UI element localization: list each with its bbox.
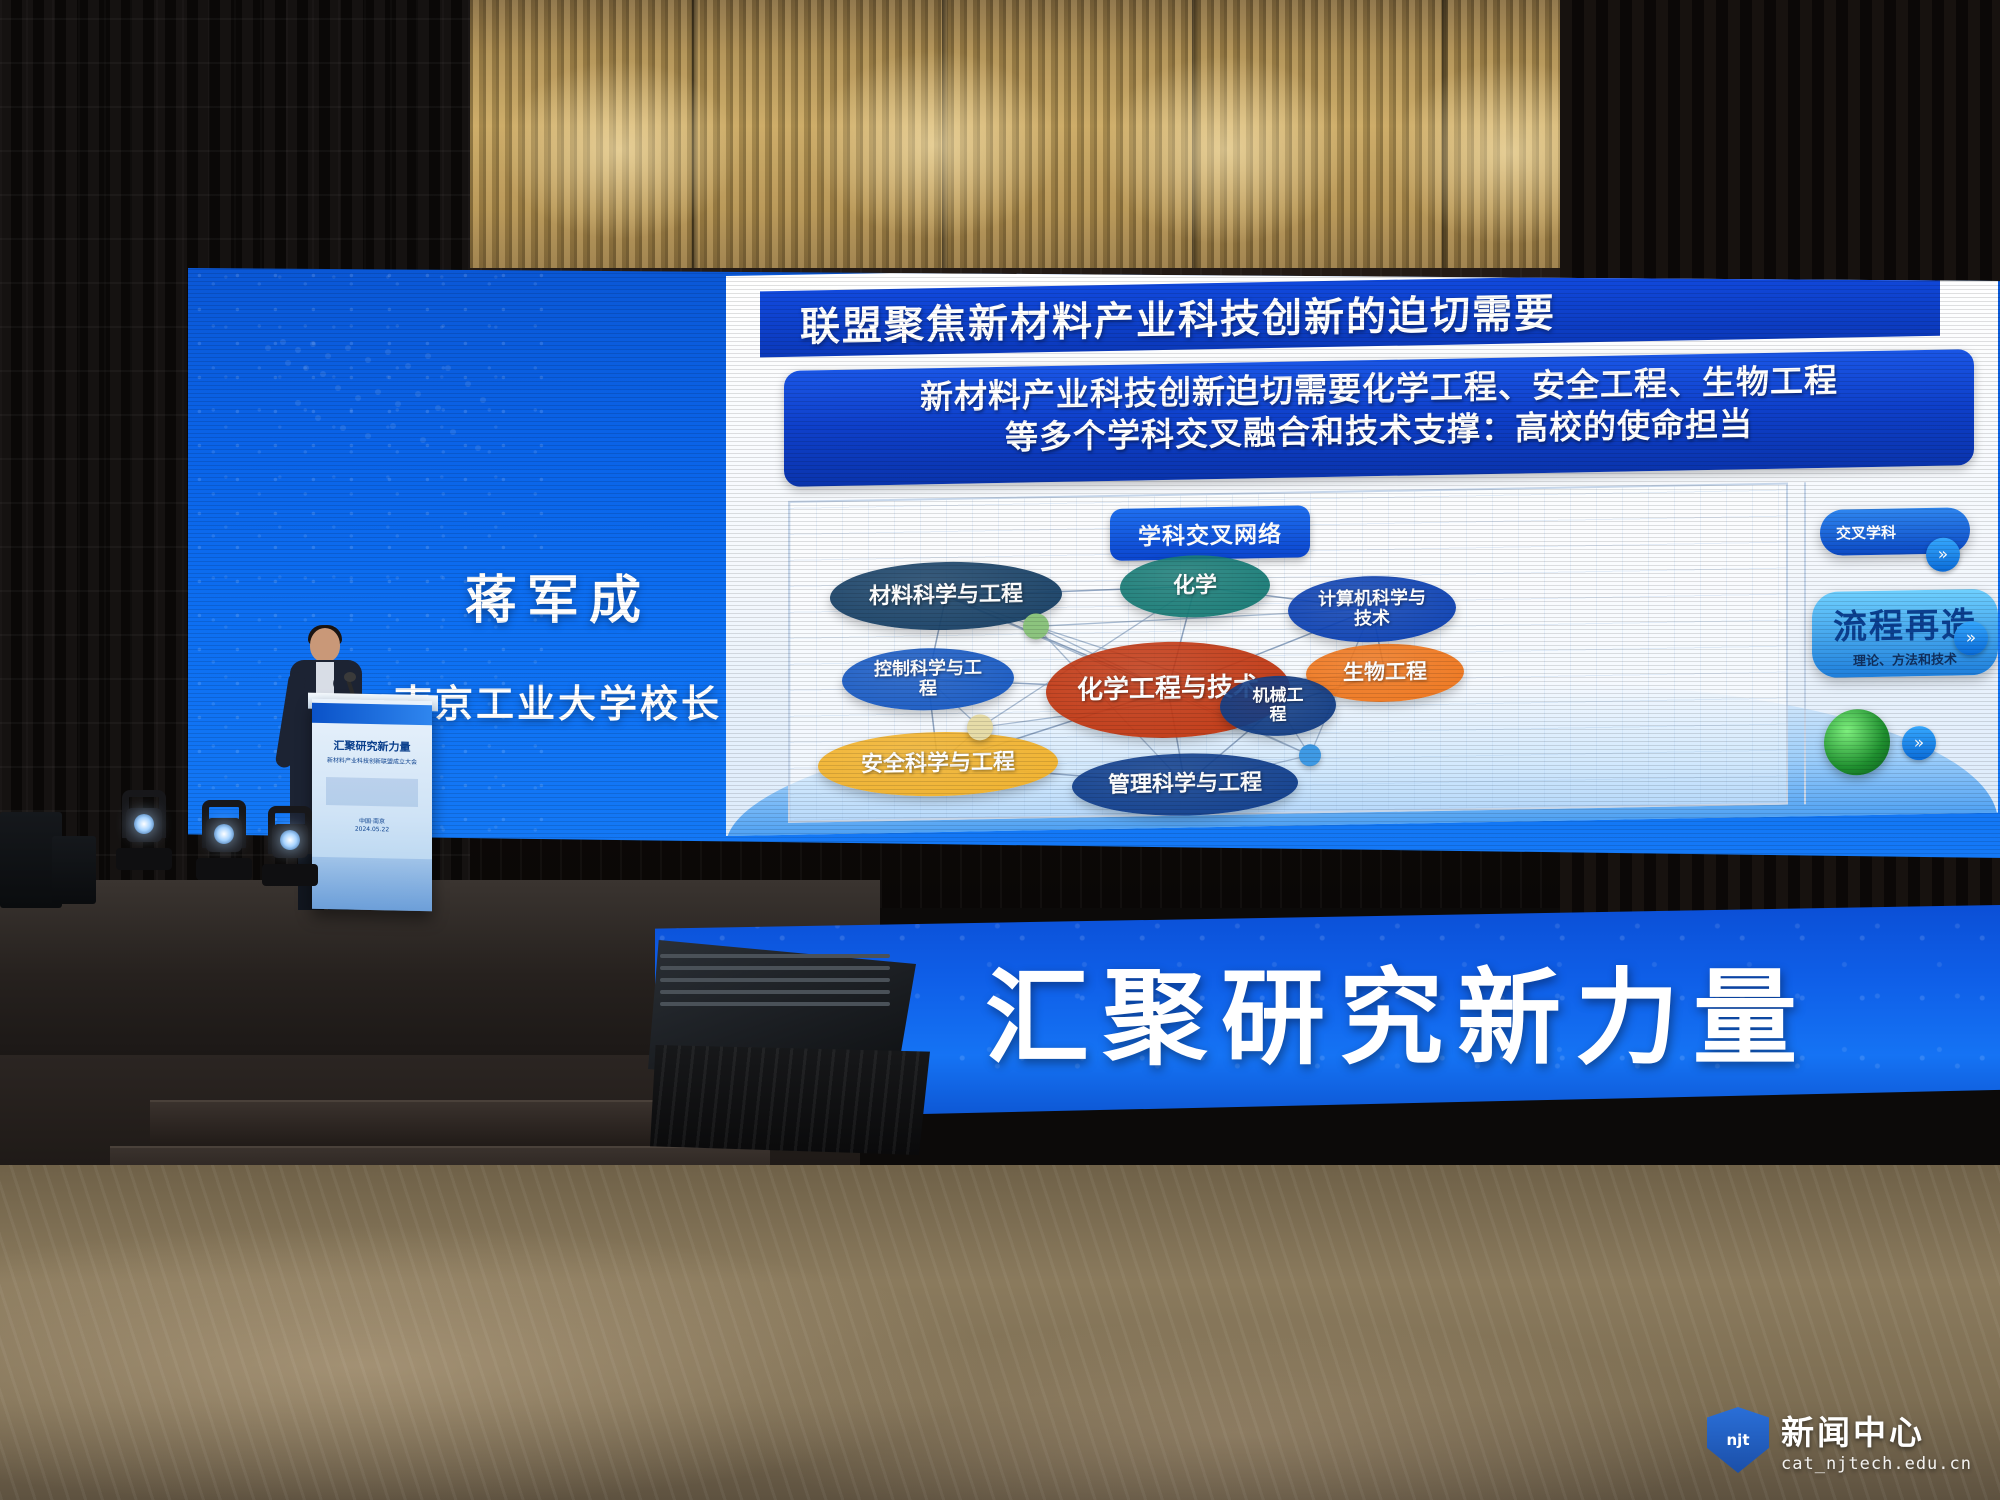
podium-line2: 新材料产业科技创新联盟成立大会 <box>312 755 432 767</box>
podium-skyline-graphic <box>312 857 432 912</box>
wedge-monitor-skirt <box>650 1045 930 1155</box>
speaker-title: 南京工业大学校长 <box>393 673 723 728</box>
slide-title-bar: 联盟聚焦新材料产业科技创新的迫切需要 <box>760 270 1940 358</box>
slide-title: 联盟聚焦新材料产业科技创新的迫切需要 <box>800 281 1556 353</box>
network-node-label-5: 生物工程 <box>1343 660 1427 685</box>
slide-subtitle-box: 新材料产业科技创新迫切需要化学工程、安全工程、生物工程 等多个学科交叉融合和技术… <box>784 349 1974 487</box>
network-node-label-2: 计算机科学与 技术 <box>1318 588 1426 630</box>
network-node-label-1: 化学 <box>1173 574 1217 599</box>
chevron-glyph-2: » <box>1966 628 1976 648</box>
world-map-graphic <box>228 308 528 488</box>
floor-carpet <box>0 1165 2000 1500</box>
led-video-wall: 蒋军成 南京工业大学校长 联盟聚焦新材料产业科技创新的迫切需要 新材料产业科技创… <box>188 268 2000 858</box>
podium-panel <box>326 777 418 807</box>
podium: 汇聚研究新力量 新材料产业科技创新联盟成立大会 中国·南京 2024.05.22 <box>312 699 432 912</box>
watermark-name: 新闻中心 <box>1781 1406 1972 1454</box>
chevron-glyph-3: » <box>1914 733 1924 753</box>
speaker-name: 蒋军成 <box>393 558 723 633</box>
podium-line1: 汇聚研究新力量 <box>312 737 432 756</box>
presentation-slide: 联盟聚焦新材料产业科技创新的迫切需要 新材料产业科技创新迫切需要化学工程、安全工… <box>726 268 1998 836</box>
chevron-down-icon-1: » <box>1926 537 1960 572</box>
microphone-head <box>344 672 356 682</box>
stage-speaker-left-2 <box>52 836 96 904</box>
network-diagram-panel: 学科交叉网络 材料科学与工程化学计算机科学与 技术控制科学与工 程化学工程与技术… <box>788 483 1788 823</box>
chevron-glyph-1: » <box>1938 545 1948 565</box>
podium-logo-strip <box>312 703 432 726</box>
slide-right-strip: 交叉学科 » 流程再造 理论、方法和技术 » » <box>1804 479 1998 805</box>
front-banner-text: 汇聚研究新力量 <box>985 933 1811 1084</box>
right-pill-jiaocha-label: 交叉学科 <box>1836 521 1896 543</box>
podium-line4: 2024.05.22 <box>312 825 432 835</box>
network-chip-label: 学科交叉网络 <box>1110 505 1310 561</box>
watermark: njt 新闻中心 cat_njtech.edu.cn <box>1707 1406 1972 1474</box>
wedge-monitor-grill <box>660 950 890 1014</box>
university-shield-logo: njt <box>1707 1407 1769 1473</box>
screenshot-root: 蒋军成 南京工业大学校长 联盟聚焦新材料产业科技创新的迫切需要 新材料产业科技创… <box>0 0 2000 1500</box>
network-node-label-6: 机械工 程 <box>1253 686 1304 725</box>
person-head <box>310 628 340 662</box>
shield-text: njt <box>1727 1431 1750 1449</box>
network-node-label-3: 控制科学与工 程 <box>874 658 982 700</box>
right-pill-liucheng-sub: 理论、方法和技术 <box>1853 648 1957 669</box>
network-node-label-7: 安全科学与工程 <box>861 750 1015 777</box>
speaker-nameplate: 蒋军成 南京工业大学校长 <box>393 558 723 728</box>
chevron-down-icon-3: » <box>1902 726 1936 761</box>
network-node-label-8: 管理科学与工程 <box>1108 771 1262 798</box>
globe-icon <box>1824 709 1890 776</box>
network-node-label-0: 材料科学与工程 <box>869 582 1023 609</box>
watermark-url: cat_njtech.edu.cn <box>1781 1454 1972 1474</box>
